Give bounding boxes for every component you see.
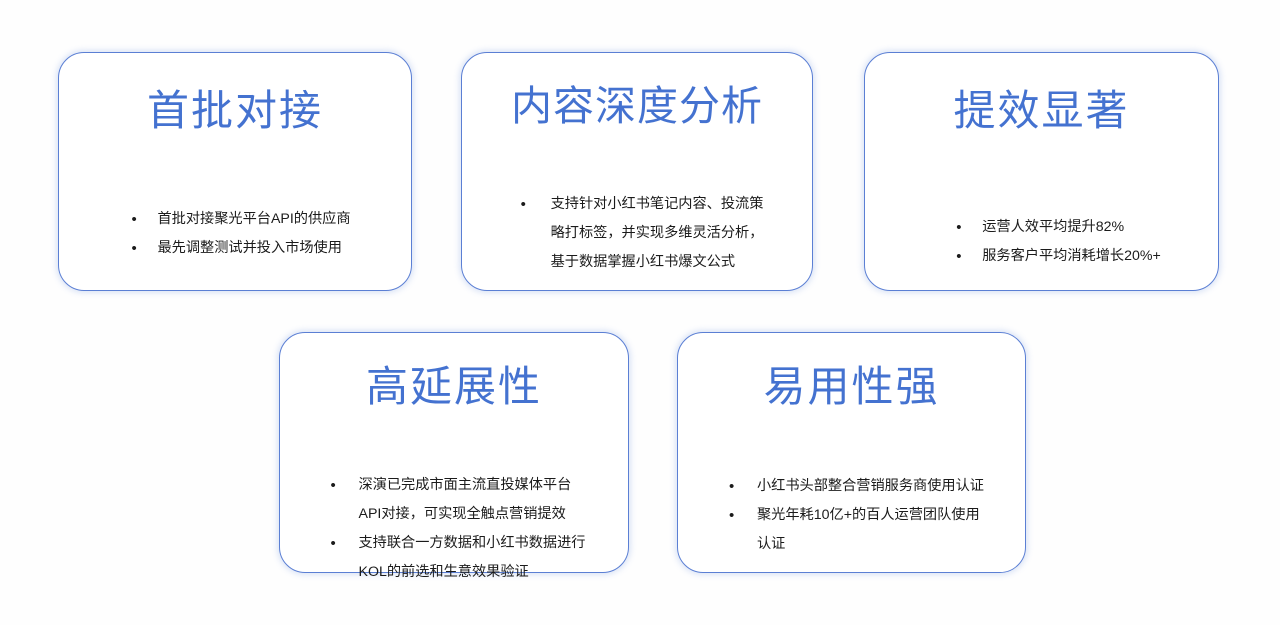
bullet-text: 首批对接聚光平台API的供应商	[157, 205, 350, 234]
list-item: • 首批对接聚光平台API的供应商	[131, 205, 350, 234]
bullet-dot-icon: •	[956, 242, 982, 271]
card-title: 内容深度分析	[511, 84, 763, 129]
bullet-line: 运营人效平均提升82%	[982, 213, 1161, 242]
list-item: • 支持联合一方数据和小红书数据进行 KOL的前选和生意效果验证	[330, 529, 585, 587]
card-bullet-list: • 首批对接聚光平台API的供应商 • 最先调整测试并投入市场使用	[131, 205, 350, 263]
feature-card-content-depth-analysis: 内容深度分析 • 支持针对小红书笔记内容、投流策 略打标签，并实现多维灵活分析，…	[461, 52, 813, 291]
bullet-line: 略打标签，并实现多维灵活分析，	[551, 219, 764, 248]
card-title: 高延展性	[366, 364, 542, 410]
bullet-line: 深演已完成市面主流直投媒体平台	[358, 471, 585, 500]
bullet-line: 支持针对小红书笔记内容、投流策	[551, 190, 764, 219]
bullet-text: 小红书头部整合营销服务商使用认证	[757, 472, 984, 501]
bullet-dot-icon: •	[729, 501, 757, 530]
feature-card-high-extensibility: 高延展性 • 深演已完成市面主流直投媒体平台 API对接，可实现全触点营销提效 …	[279, 332, 629, 573]
card-bullet-list: • 运营人效平均提升82% • 服务客户平均消耗增长20%+	[956, 213, 1161, 271]
bullet-line: KOL的前选和生意效果验证	[358, 558, 585, 587]
bullet-line: 支持联合一方数据和小红书数据进行	[358, 529, 585, 558]
list-item: • 服务客户平均消耗增长20%+	[956, 242, 1161, 271]
bullet-text: 聚光年耗10亿+的百人运营团队使用 认证	[757, 501, 984, 559]
bullet-text: 支持针对小红书笔记内容、投流策 略打标签，并实现多维灵活分析， 基于数据掌握小红…	[551, 190, 764, 277]
bullet-line: 服务客户平均消耗增长20%+	[982, 242, 1161, 271]
bullet-dot-icon: •	[330, 471, 358, 500]
list-item: • 运营人效平均提升82%	[956, 213, 1161, 242]
bullet-line: 最先调整测试并投入市场使用	[157, 234, 350, 263]
list-item: • 最先调整测试并投入市场使用	[131, 234, 350, 263]
card-title: 提效显著	[953, 88, 1129, 134]
bullet-dot-icon: •	[956, 213, 982, 242]
bullet-text: 服务客户平均消耗增长20%+	[982, 242, 1161, 271]
list-item: • 支持针对小红书笔记内容、投流策 略打标签，并实现多维灵活分析， 基于数据掌握…	[521, 190, 764, 277]
list-item: • 深演已完成市面主流直投媒体平台 API对接，可实现全触点营销提效	[330, 471, 585, 529]
bullet-text: 深演已完成市面主流直投媒体平台 API对接，可实现全触点营销提效	[358, 471, 585, 529]
feature-card-first-integration: 首批对接 • 首批对接聚光平台API的供应商 • 最先调整测试并投入市场使用	[58, 52, 412, 291]
bullet-dot-icon: •	[131, 234, 157, 263]
card-bullet-list: • 支持针对小红书笔记内容、投流策 略打标签，并实现多维灵活分析， 基于数据掌握…	[521, 190, 764, 277]
bullet-dot-icon: •	[330, 529, 358, 558]
bullet-text: 运营人效平均提升82%	[982, 213, 1161, 242]
card-title: 首批对接	[147, 88, 323, 134]
list-item: • 聚光年耗10亿+的百人运营团队使用 认证	[729, 501, 984, 559]
feature-cards-slide: 首批对接 • 首批对接聚光平台API的供应商 • 最先调整测试并投入市场使用 内…	[0, 0, 1280, 625]
bullet-line: 基于数据掌握小红书爆文公式	[551, 248, 764, 277]
bullet-text: 最先调整测试并投入市场使用	[157, 234, 350, 263]
bullet-line: 聚光年耗10亿+的百人运营团队使用	[757, 501, 984, 530]
bullet-line: 首批对接聚光平台API的供应商	[157, 205, 350, 234]
bullet-dot-icon: •	[131, 205, 157, 234]
bullet-dot-icon: •	[521, 190, 551, 219]
bullet-line: 小红书头部整合营销服务商使用认证	[757, 472, 984, 501]
bullet-line: 认证	[757, 530, 984, 559]
feature-card-efficiency-gains: 提效显著 • 运营人效平均提升82% • 服务客户平均消耗增长20%+	[864, 52, 1219, 291]
card-bullet-list: • 小红书头部整合营销服务商使用认证 • 聚光年耗10亿+的百人运营团队使用 认…	[729, 472, 984, 559]
feature-card-ease-of-use: 易用性强 • 小红书头部整合营销服务商使用认证 • 聚光年耗10亿+的百人运营团…	[677, 332, 1026, 573]
card-title: 易用性强	[763, 364, 939, 410]
card-bullet-list: • 深演已完成市面主流直投媒体平台 API对接，可实现全触点营销提效 • 支持联…	[330, 471, 585, 587]
bullet-dot-icon: •	[729, 472, 757, 501]
list-item: • 小红书头部整合营销服务商使用认证	[729, 472, 984, 501]
bullet-text: 支持联合一方数据和小红书数据进行 KOL的前选和生意效果验证	[358, 529, 585, 587]
bullet-line: API对接，可实现全触点营销提效	[358, 500, 585, 529]
